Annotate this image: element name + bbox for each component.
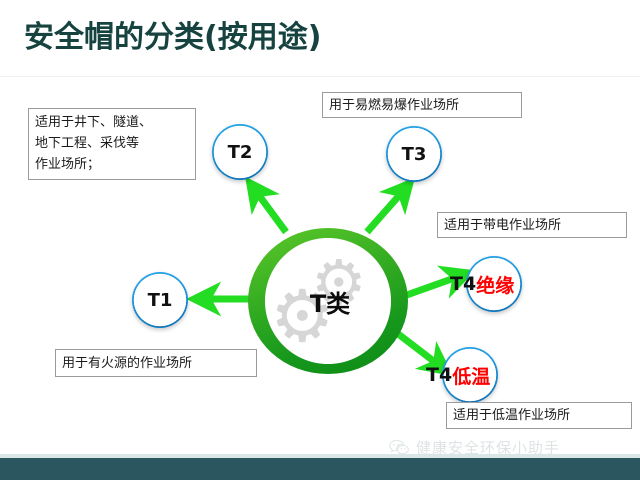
- caption-t4-lowtemp: 适用于低温作业场所: [446, 402, 632, 429]
- caption-t3: 用于易燃易爆作业场所: [322, 92, 522, 118]
- arrow-to-t2: [255, 190, 286, 232]
- node-t3-text: T3: [402, 144, 427, 165]
- node-t4-insulation-highlight: 绝缘: [476, 271, 514, 298]
- node-t2-text: T2: [228, 142, 253, 163]
- page-title: 安全帽的分类(按用途): [24, 14, 321, 62]
- node-t1-text: T1: [148, 290, 173, 311]
- node-t1[interactable]: T1: [132, 272, 188, 328]
- center-node-label: T类: [248, 228, 408, 374]
- caption-t1: 用于有火源的作业场所: [55, 349, 257, 377]
- node-t4-lowtemp-highlight: 低温: [452, 362, 490, 389]
- node-t4-insulation[interactable]: T4绝缘: [466, 256, 522, 312]
- node-t4-lowtemp[interactable]: T4低温: [442, 347, 498, 403]
- arrow-to-t3: [367, 190, 404, 232]
- node-t4-insulation-label: T4绝缘: [450, 256, 546, 312]
- node-t3-label: T3: [386, 126, 442, 182]
- node-t1-label: T1: [132, 272, 188, 328]
- title-divider: [0, 76, 640, 77]
- footer-bar: [0, 458, 640, 480]
- node-t4-lowtemp-text: T4: [426, 364, 452, 386]
- slide-canvas: 安全帽的分类(按用途) ⚙ ⚙ T: [0, 0, 640, 480]
- node-t2[interactable]: T2: [212, 124, 268, 180]
- node-t4-lowtemp-label: T4低温: [426, 347, 522, 403]
- node-t2-label: T2: [212, 124, 268, 180]
- node-t4-insulation-text: T4: [450, 273, 476, 295]
- title-bar: 安全帽的分类(按用途): [0, 14, 640, 66]
- caption-t2: 适用于井下、隧道、 地下工程、采伐等 作业场所；: [28, 108, 196, 180]
- node-t3[interactable]: T3: [386, 126, 442, 182]
- center-node-t-class[interactable]: ⚙ ⚙ T类: [248, 228, 408, 374]
- caption-t4-insulation: 适用于带电作业场所: [437, 212, 627, 238]
